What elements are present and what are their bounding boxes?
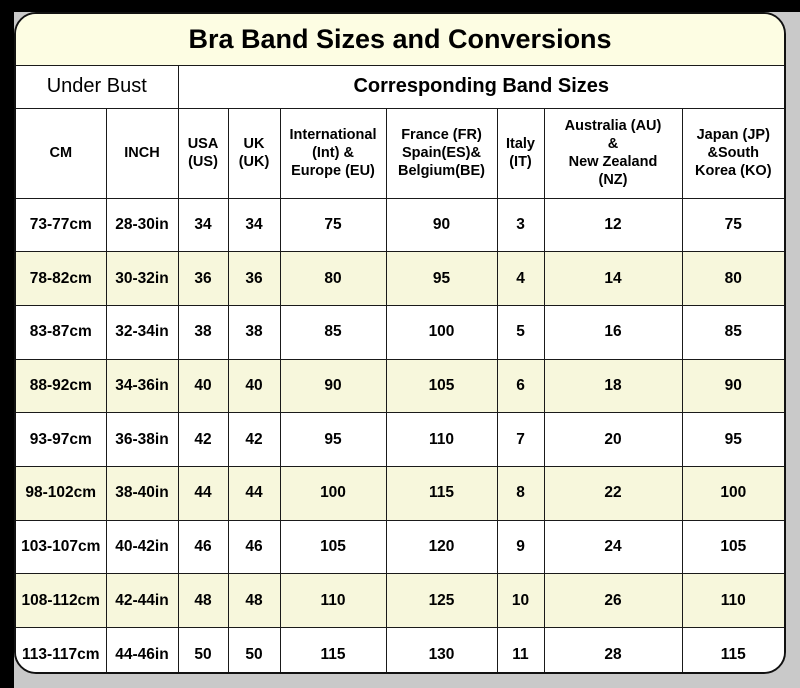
group-header-corresponding-band-sizes: Corresponding Band Sizes: [178, 65, 784, 108]
column-header-australia-new-zealand: Australia (AU)&New Zealand(NZ): [544, 108, 682, 198]
cell-inch: 32-34in: [106, 305, 178, 359]
size-chart-card: Bra Band Sizes and Conversions Under Bus…: [14, 12, 786, 674]
cell-au: 12: [544, 198, 682, 252]
cell-it: 7: [497, 413, 544, 467]
cell-au: 26: [544, 574, 682, 628]
table-row: 83-87cm32-34in38388510051685: [16, 305, 784, 359]
column-header-row: CM INCH USA(US) UK(UK) International(Int…: [16, 108, 784, 198]
table-row: 88-92cm34-36in40409010561890: [16, 359, 784, 413]
cell-jp: 115: [682, 628, 784, 675]
table-head: Bra Band Sizes and Conversions Under Bus…: [16, 14, 784, 198]
cell-eu: 95: [280, 413, 386, 467]
cell-us: 44: [178, 466, 228, 520]
cell-au: 28: [544, 628, 682, 675]
cell-fr: 90: [386, 198, 497, 252]
cell-us: 48: [178, 574, 228, 628]
cell-jp: 75: [682, 198, 784, 252]
cell-eu: 80: [280, 252, 386, 306]
table-row: 108-112cm42-44in48481101251026110: [16, 574, 784, 628]
cell-fr: 100: [386, 305, 497, 359]
table-row: 98-102cm38-40in4444100115822100: [16, 466, 784, 520]
group-header-row: Under Bust Corresponding Band Sizes: [16, 65, 784, 108]
screenshot-stage: Bra Band Sizes and Conversions Under Bus…: [0, 0, 800, 688]
cell-eu: 90: [280, 359, 386, 413]
cell-fr: 130: [386, 628, 497, 675]
table-row: 103-107cm40-42in4646105120924105: [16, 520, 784, 574]
page-title: Bra Band Sizes and Conversions: [16, 14, 784, 65]
cell-uk: 44: [228, 466, 280, 520]
cell-uk: 48: [228, 574, 280, 628]
cell-eu: 85: [280, 305, 386, 359]
cell-fr: 95: [386, 252, 497, 306]
cell-cm: 78-82cm: [16, 252, 106, 306]
cell-cm: 108-112cm: [16, 574, 106, 628]
column-header-usa: USA(US): [178, 108, 228, 198]
table-row: 78-82cm30-32in3636809541480: [16, 252, 784, 306]
cell-inch: 38-40in: [106, 466, 178, 520]
cell-jp: 90: [682, 359, 784, 413]
cell-eu: 100: [280, 466, 386, 520]
cell-au: 16: [544, 305, 682, 359]
table-body: 73-77cm28-30in343475903127578-82cm30-32i…: [16, 198, 784, 674]
cell-jp: 85: [682, 305, 784, 359]
cell-eu: 75: [280, 198, 386, 252]
cell-cm: 113-117cm: [16, 628, 106, 675]
cell-eu: 115: [280, 628, 386, 675]
cell-us: 42: [178, 413, 228, 467]
cell-inch: 36-38in: [106, 413, 178, 467]
cell-fr: 115: [386, 466, 497, 520]
cell-uk: 38: [228, 305, 280, 359]
cell-it: 6: [497, 359, 544, 413]
cell-au: 22: [544, 466, 682, 520]
cell-it: 5: [497, 305, 544, 359]
cell-it: 10: [497, 574, 544, 628]
cell-fr: 105: [386, 359, 497, 413]
cell-inch: 30-32in: [106, 252, 178, 306]
cell-uk: 42: [228, 413, 280, 467]
bra-band-size-table: Bra Band Sizes and Conversions Under Bus…: [16, 14, 784, 674]
cell-uk: 36: [228, 252, 280, 306]
cell-fr: 125: [386, 574, 497, 628]
cell-it: 3: [497, 198, 544, 252]
group-header-under-bust: Under Bust: [16, 65, 178, 108]
cell-cm: 98-102cm: [16, 466, 106, 520]
cell-us: 38: [178, 305, 228, 359]
cell-jp: 95: [682, 413, 784, 467]
cell-us: 46: [178, 520, 228, 574]
cell-it: 11: [497, 628, 544, 675]
cell-cm: 103-107cm: [16, 520, 106, 574]
cell-jp: 80: [682, 252, 784, 306]
column-header-international-europe: International(Int) &Europe (EU): [280, 108, 386, 198]
cell-us: 34: [178, 198, 228, 252]
cell-it: 4: [497, 252, 544, 306]
cell-jp: 110: [682, 574, 784, 628]
cell-it: 8: [497, 466, 544, 520]
cell-au: 20: [544, 413, 682, 467]
cell-inch: 28-30in: [106, 198, 178, 252]
title-row: Bra Band Sizes and Conversions: [16, 14, 784, 65]
cell-inch: 44-46in: [106, 628, 178, 675]
column-header-france-spain-belgium: France (FR)Spain(ES)&Belgium(BE): [386, 108, 497, 198]
cell-inch: 42-44in: [106, 574, 178, 628]
cell-fr: 110: [386, 413, 497, 467]
cell-us: 36: [178, 252, 228, 306]
cell-cm: 83-87cm: [16, 305, 106, 359]
cell-au: 24: [544, 520, 682, 574]
cell-jp: 105: [682, 520, 784, 574]
cell-uk: 50: [228, 628, 280, 675]
cell-uk: 46: [228, 520, 280, 574]
cell-inch: 34-36in: [106, 359, 178, 413]
cell-uk: 34: [228, 198, 280, 252]
column-header-italy: Italy(IT): [497, 108, 544, 198]
cell-cm: 88-92cm: [16, 359, 106, 413]
table-row: 93-97cm36-38in42429511072095: [16, 413, 784, 467]
cell-us: 50: [178, 628, 228, 675]
cell-jp: 100: [682, 466, 784, 520]
table-row: 73-77cm28-30in3434759031275: [16, 198, 784, 252]
table-row: 113-117cm44-46in50501151301128115: [16, 628, 784, 675]
cell-cm: 73-77cm: [16, 198, 106, 252]
cell-eu: 105: [280, 520, 386, 574]
cell-us: 40: [178, 359, 228, 413]
cell-au: 14: [544, 252, 682, 306]
cell-inch: 40-42in: [106, 520, 178, 574]
column-header-cm: CM: [16, 108, 106, 198]
cell-fr: 120: [386, 520, 497, 574]
cell-au: 18: [544, 359, 682, 413]
cell-uk: 40: [228, 359, 280, 413]
column-header-inch: INCH: [106, 108, 178, 198]
column-header-uk: UK(UK): [228, 108, 280, 198]
cell-it: 9: [497, 520, 544, 574]
column-header-japan-south-korea: Japan (JP)&SouthKorea (KO): [682, 108, 784, 198]
cell-cm: 93-97cm: [16, 413, 106, 467]
cell-eu: 110: [280, 574, 386, 628]
